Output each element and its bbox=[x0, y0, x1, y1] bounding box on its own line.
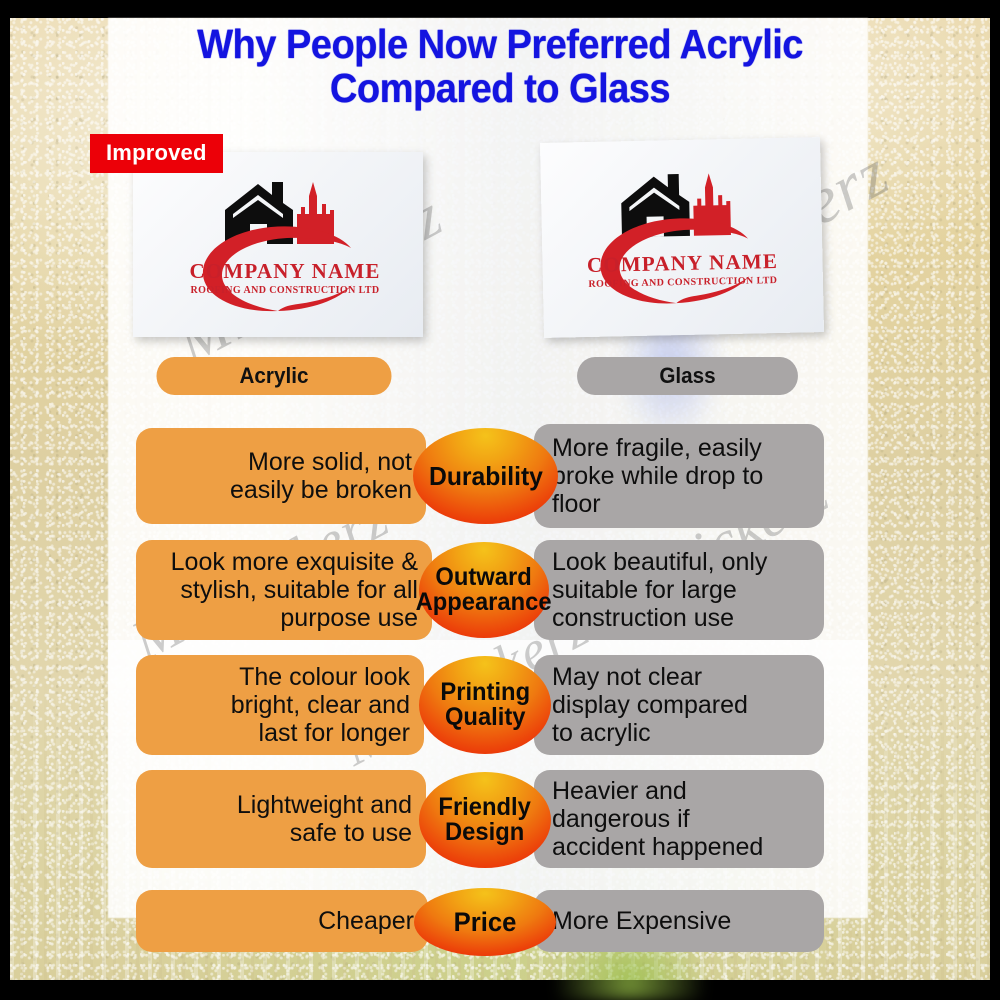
row-left-cell: Cheaper bbox=[136, 890, 428, 952]
row-left-text: Look more exquisite & stylish, suitable … bbox=[171, 548, 418, 632]
row-left-text: The colour look bright, clear and last f… bbox=[231, 663, 410, 747]
title-line-2: Compared to Glass bbox=[35, 66, 965, 110]
improved-badge: Improved bbox=[90, 134, 223, 173]
row-right-text: Look beautiful, only suitable for large … bbox=[552, 548, 767, 632]
row-right-cell: May not clear display compared to acryli… bbox=[534, 655, 824, 755]
row-left-cell: The colour look bright, clear and last f… bbox=[136, 655, 424, 755]
logo-graphic: COMPANY NAME ROOFING AND CONSTRUCTION LT… bbox=[540, 137, 824, 338]
feature-label: Printing Quality bbox=[440, 680, 530, 730]
feature-label: Friendly Design bbox=[439, 795, 531, 845]
row-right-cell: Heavier and dangerous if accident happen… bbox=[534, 770, 824, 868]
row-left-text: Cheaper bbox=[318, 907, 414, 935]
row-right-text: More Expensive bbox=[552, 907, 731, 935]
feature-label: Price bbox=[454, 909, 517, 936]
company-logo-acrylic: COMPANY NAME ROOFING AND CONSTRUCTION LT… bbox=[133, 152, 423, 337]
row-right-text: Heavier and dangerous if accident happen… bbox=[552, 777, 763, 861]
feature-badge: Outward Appearance bbox=[419, 542, 549, 638]
row-left-text: Lightweight and safe to use bbox=[237, 791, 412, 847]
logo-graphic: COMPANY NAME ROOFING AND CONSTRUCTION LT… bbox=[133, 152, 423, 337]
row-left-cell: Look more exquisite & stylish, suitable … bbox=[136, 540, 432, 640]
feature-label: Durability bbox=[429, 463, 543, 489]
svg-text:ROOFING AND CONSTRUCTION LTD: ROOFING AND CONSTRUCTION LTD bbox=[191, 285, 380, 296]
header-label-acrylic: Acrylic bbox=[239, 363, 308, 389]
row-left-text: More solid, not easily be broken bbox=[230, 448, 412, 504]
title-line-1: Why People Now Preferred Acrylic bbox=[35, 22, 965, 66]
feature-badge: Durability bbox=[413, 428, 558, 524]
company-logo-glass: COMPANY NAME ROOFING AND CONSTRUCTION LT… bbox=[540, 137, 824, 338]
acrylic-card: COMPANY NAME ROOFING AND CONSTRUCTION LT… bbox=[133, 152, 423, 337]
header-pill-acrylic: Acrylic bbox=[157, 357, 392, 395]
poster-frame: Mr Stickerz Mr Stickerz Mr Stickerz Mr S… bbox=[0, 0, 1000, 1000]
row-left-cell: Lightweight and safe to use bbox=[136, 770, 426, 868]
svg-text:COMPANY NAME: COMPANY NAME bbox=[189, 259, 380, 283]
page-title: Why People Now Preferred Acrylic Compare… bbox=[35, 22, 965, 111]
feature-badge: Printing Quality bbox=[419, 656, 551, 754]
row-left-cell: More solid, not easily be broken bbox=[136, 428, 426, 524]
feature-badge: Price bbox=[414, 888, 556, 956]
glass-card: COMPANY NAME ROOFING AND CONSTRUCTION LT… bbox=[540, 137, 824, 338]
row-right-cell: Look beautiful, only suitable for large … bbox=[534, 540, 824, 640]
feature-badge: Friendly Design bbox=[419, 772, 551, 868]
header-pill-glass: Glass bbox=[577, 357, 798, 395]
row-right-cell: More fragile, easily broke while drop to… bbox=[534, 424, 824, 528]
feature-label: Outward Appearance bbox=[416, 565, 552, 615]
row-right-text: More fragile, easily broke while drop to… bbox=[552, 434, 763, 518]
row-right-text: May not clear display compared to acryli… bbox=[552, 663, 748, 747]
row-right-cell: More Expensive bbox=[534, 890, 824, 952]
svg-text:COMPANY NAME: COMPANY NAME bbox=[587, 249, 779, 277]
header-label-glass: Glass bbox=[659, 363, 715, 389]
